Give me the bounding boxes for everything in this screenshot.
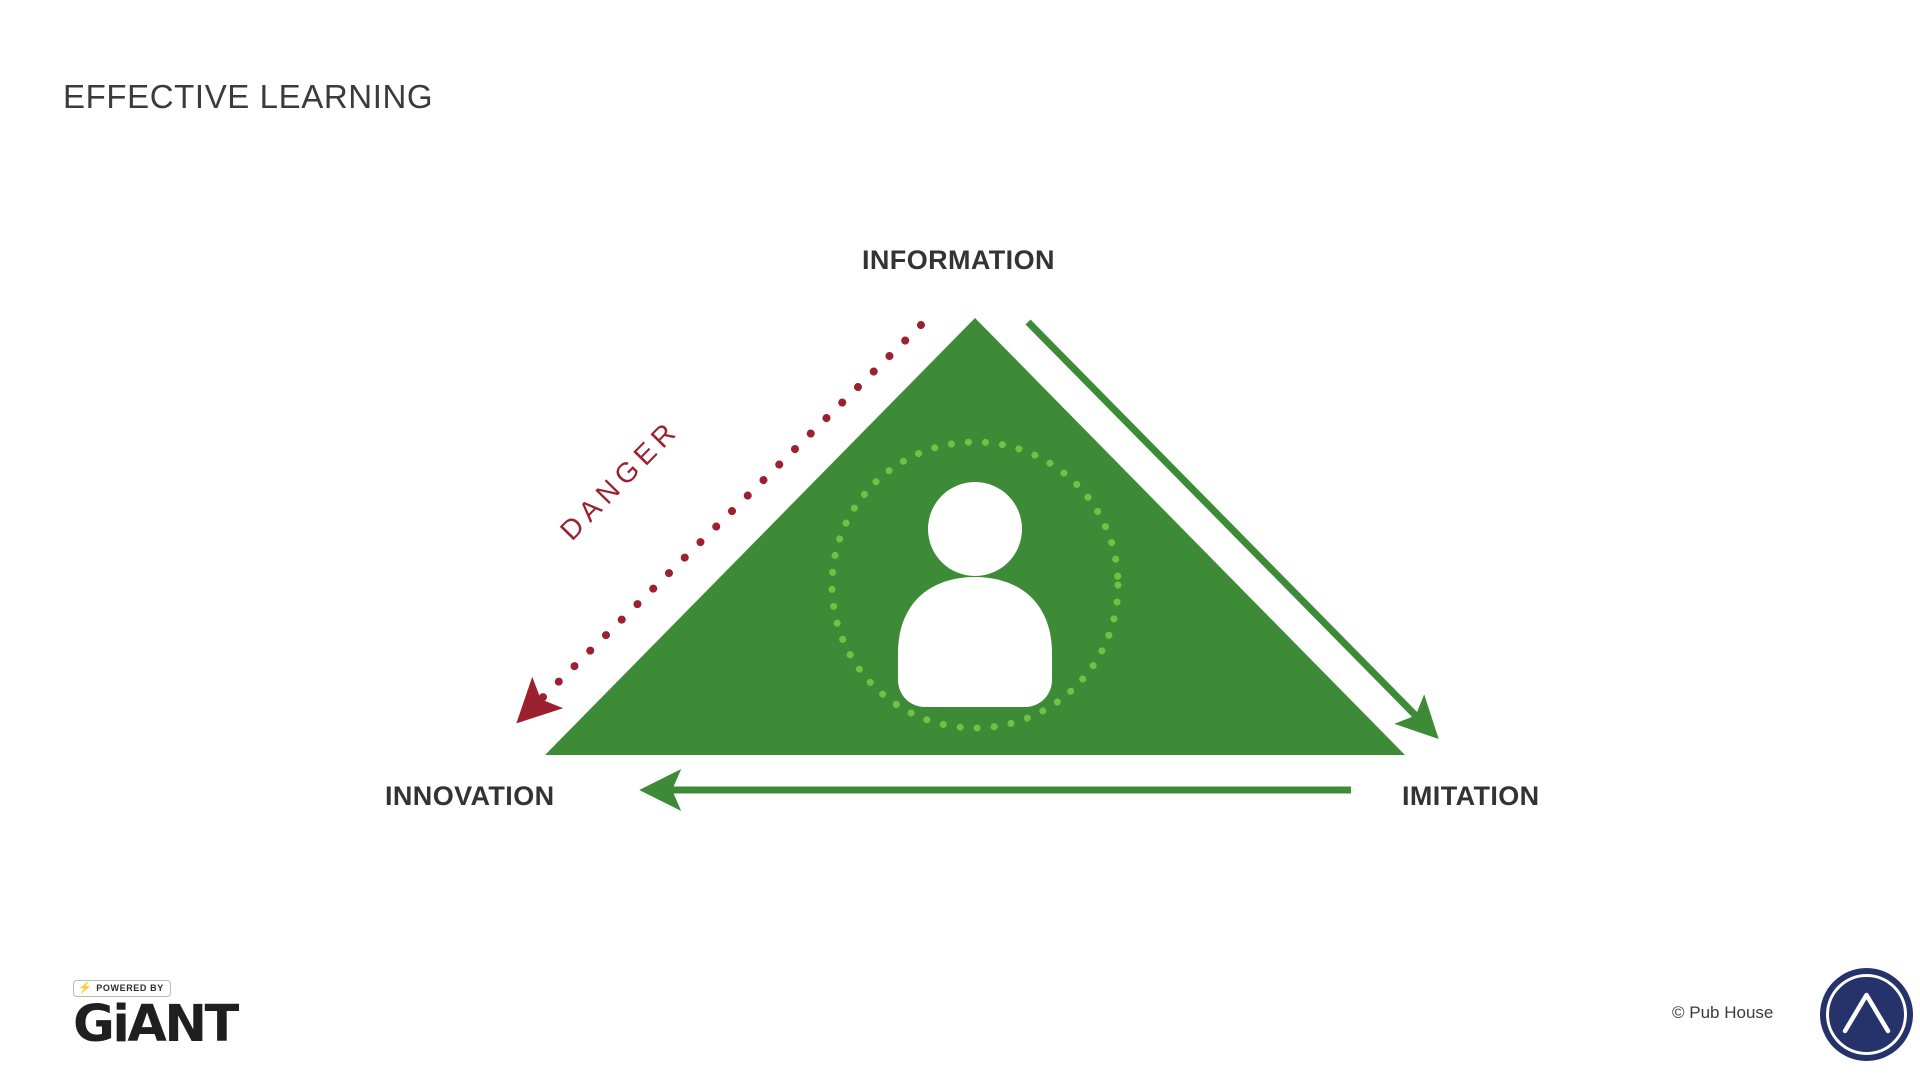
powered-by-label: POWERED BY (96, 984, 164, 993)
vertex-label-information: INFORMATION (862, 245, 1055, 276)
chevron-peak-circle-icon (1820, 968, 1913, 1061)
vertex-label-imitation: IMITATION (1402, 781, 1540, 812)
diagram-svg (0, 0, 1920, 1080)
lightning-bolt-icon: ⚡ (78, 983, 92, 994)
giant-wordmark: GiANT (73, 999, 273, 1050)
powered-by-giant-logo: ⚡ POWERED BY GiANT (73, 978, 273, 1050)
effective-learning-diagram: INFORMATION INNOVATION IMITATION DANGER (0, 0, 1920, 1080)
vertex-label-innovation: INNOVATION (385, 781, 555, 812)
copyright-text: © Pub House (1672, 1003, 1773, 1023)
slide-canvas: EFFECTIVE LEARNING (0, 0, 1920, 1080)
